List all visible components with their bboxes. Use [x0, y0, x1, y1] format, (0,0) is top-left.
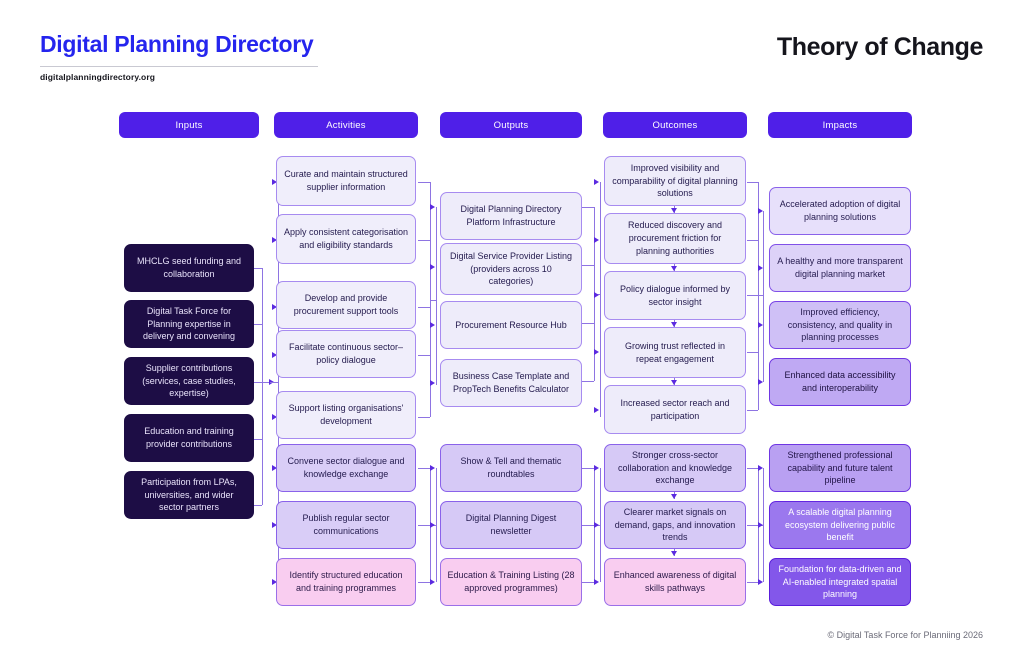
column-header-outcomes: Outcomes [603, 112, 747, 138]
connector-line [747, 525, 758, 526]
node-label: Stronger cross-sector collaboration and … [611, 449, 739, 487]
node-input-4[interactable]: Education and training provider contribu… [124, 414, 254, 462]
connector-trunk [600, 182, 601, 417]
brand-title: Digital Planning Directory [40, 32, 318, 57]
node-label: Supplier contributions (services, case s… [131, 362, 247, 400]
node-impact-5[interactable]: Strengthened professional capability and… [769, 444, 911, 492]
node-outcome-1[interactable]: Improved visibility and comparability of… [604, 156, 746, 206]
node-outcome-5[interactable]: Increased sector reach and participation [604, 385, 746, 434]
node-label: Support listing organisations' developme… [283, 402, 409, 428]
node-label: Business Case Template and PropTech Bene… [447, 370, 575, 396]
connector-line [758, 295, 763, 296]
connector-trunk [436, 207, 437, 385]
node-input-1[interactable]: MHCLG seed funding and collaboration [124, 244, 254, 292]
column-header-label: Outcomes [653, 120, 698, 131]
connector-arrow [430, 322, 435, 328]
connector-arrow [758, 465, 763, 471]
node-activity-5[interactable]: Support listing organisations' developme… [276, 391, 416, 439]
connector-line [747, 410, 758, 411]
node-outcome-8[interactable]: Enhanced awareness of digital skills pat… [604, 558, 746, 606]
connector-arrow [430, 380, 435, 386]
connector-line [582, 582, 594, 583]
node-label: Education & Training Listing (28 approve… [447, 569, 575, 595]
node-label: Enhanced awareness of digital skills pat… [611, 569, 739, 595]
node-label: Apply consistent categorisation and elig… [283, 226, 409, 252]
connector-arrow [594, 292, 599, 298]
node-label: Digital Service Provider Listing (provid… [447, 250, 575, 288]
node-activity-8[interactable]: Identify structured education and traini… [276, 558, 416, 606]
node-activity-7[interactable]: Publish regular sector communications [276, 501, 416, 549]
connector-line [418, 525, 430, 526]
node-label: MHCLG seed funding and collaboration [131, 255, 247, 281]
page-title: Theory of Change [777, 33, 983, 62]
connector-arrow [758, 322, 763, 328]
connector-line [747, 352, 758, 353]
connector-line [582, 207, 594, 208]
node-label: Enhanced data accessibility and interope… [776, 369, 904, 395]
connector-line [582, 468, 594, 469]
connector-trunk [763, 211, 764, 382]
connector-arrow [758, 579, 763, 585]
connector-line [418, 240, 430, 241]
connector-arrow [594, 579, 599, 585]
node-label: Curate and maintain structured supplier … [283, 168, 409, 194]
node-input-5[interactable]: Participation from LPAs, universities, a… [124, 471, 254, 519]
connector-line [747, 240, 758, 241]
node-label: Digital Planning Directory Platform Infr… [447, 203, 575, 229]
connector-line [418, 182, 430, 183]
connector-trunk [436, 468, 437, 582]
column-header-label: Activities [326, 120, 365, 131]
column-header-label: Inputs [175, 120, 202, 131]
node-impact-1[interactable]: Accelerated adoption of digital planning… [769, 187, 911, 235]
connector-arrow-down [671, 494, 677, 499]
node-impact-3[interactable]: Improved efficiency, consistency, and qu… [769, 301, 911, 349]
connector-arrow [594, 237, 599, 243]
node-activity-2[interactable]: Apply consistent categorisation and elig… [276, 214, 416, 264]
node-label: Foundation for data-driven and AI-enable… [776, 563, 904, 601]
column-header-outputs: Outputs [440, 112, 582, 138]
node-output-5[interactable]: Show & Tell and thematic roundtables [440, 444, 582, 492]
node-label: Accelerated adoption of digital planning… [776, 198, 904, 224]
node-label: Improved efficiency, consistency, and qu… [776, 306, 904, 344]
node-output-6[interactable]: Digital Planning Digest newsletter [440, 501, 582, 549]
connector-trunk [600, 468, 601, 582]
node-output-3[interactable]: Procurement Resource Hub [440, 301, 582, 349]
node-input-2[interactable]: Digital Task Force for Planning expertis… [124, 300, 254, 348]
connector-arrow [430, 204, 435, 210]
node-label: Reduced discovery and procurement fricti… [611, 219, 739, 257]
connector-arrow [594, 349, 599, 355]
node-input-3[interactable]: Supplier contributions (services, case s… [124, 357, 254, 405]
node-label: Clearer market signals on demand, gaps, … [611, 506, 739, 544]
node-label: Policy dialogue informed by sector insig… [611, 283, 739, 309]
connector-line [747, 182, 758, 183]
connector-line [430, 300, 436, 301]
column-header-impacts: Impacts [768, 112, 912, 138]
node-label: Increased sector reach and participation [611, 397, 739, 423]
connector-line [582, 265, 594, 266]
node-activity-6[interactable]: Convene sector dialogue and knowledge ex… [276, 444, 416, 492]
node-label: A scalable digital planning ecosystem de… [776, 506, 904, 544]
connector-arrow [430, 264, 435, 270]
node-label: Show & Tell and thematic roundtables [447, 455, 575, 481]
footer-copyright: © Digital Task Force for Planniing 2026 [827, 630, 983, 640]
connector-line [747, 582, 758, 583]
node-output-1[interactable]: Digital Planning Directory Platform Infr… [440, 192, 582, 240]
node-impact-2[interactable]: A healthy and more transparent digital p… [769, 244, 911, 292]
column-header-label: Impacts [823, 120, 858, 131]
node-label: Digital Planning Digest newsletter [447, 512, 575, 538]
brand-block: Digital Planning Directory digitalplanni… [40, 32, 318, 82]
connector-arrow-down [671, 551, 677, 556]
connector-trunk [262, 268, 263, 505]
node-label: Participation from LPAs, universities, a… [131, 476, 247, 514]
brand-url: digitalplanningdirectory.org [40, 72, 318, 82]
column-header-activities: Activities [274, 112, 418, 138]
connector-arrow [430, 579, 435, 585]
node-impact-4[interactable]: Enhanced data accessibility and interope… [769, 358, 911, 406]
column-header-inputs: Inputs [119, 112, 259, 138]
node-label: Develop and provide procurement support … [283, 292, 409, 318]
connector-arrow [758, 265, 763, 271]
node-label: Convene sector dialogue and knowledge ex… [283, 455, 409, 481]
node-output-4[interactable]: Business Case Template and PropTech Bene… [440, 359, 582, 407]
connector-arrow [594, 179, 599, 185]
connector-line [418, 468, 430, 469]
node-label: Digital Task Force for Planning expertis… [131, 305, 247, 343]
connector-arrow [430, 465, 435, 471]
node-activity-4[interactable]: Facilitate continuous sector–policy dial… [276, 330, 416, 378]
node-label: Strengthened professional capability and… [776, 449, 904, 487]
node-outcome-2[interactable]: Reduced discovery and procurement fricti… [604, 213, 746, 264]
node-label: A healthy and more transparent digital p… [776, 255, 904, 281]
connector-line [418, 355, 430, 356]
node-label: Publish regular sector communications [283, 512, 409, 538]
node-label: Facilitate continuous sector–policy dial… [283, 341, 409, 367]
node-label: Improved visibility and comparability of… [611, 162, 739, 200]
node-outcome-4[interactable]: Growing trust reflected in repeat engage… [604, 327, 746, 378]
connector-arrow [594, 407, 599, 413]
connector-line [418, 307, 430, 308]
node-label: Education and training provider contribu… [131, 425, 247, 451]
connector-line [582, 323, 594, 324]
node-output-2[interactable]: Digital Service Provider Listing (provid… [440, 243, 582, 295]
node-output-7[interactable]: Education & Training Listing (28 approve… [440, 558, 582, 606]
connector-line [747, 468, 758, 469]
connector-line [582, 525, 594, 526]
column-header-label: Outputs [494, 120, 529, 131]
connector-line [582, 381, 594, 382]
brand-divider [40, 66, 318, 67]
connector-arrow [594, 465, 599, 471]
node-impact-7[interactable]: Foundation for data-driven and AI-enable… [769, 558, 911, 606]
node-outcome-6[interactable]: Stronger cross-sector collaboration and … [604, 444, 746, 492]
theory-of-change-diagram: Digital Planning Directory digitalplanni… [0, 0, 1024, 670]
connector-arrow [430, 522, 435, 528]
connector-arrow [758, 208, 763, 214]
node-label: Procurement Resource Hub [447, 319, 575, 332]
connector-arrow [594, 522, 599, 528]
connector-line [418, 582, 430, 583]
node-outcome-3[interactable]: Policy dialogue informed by sector insig… [604, 271, 746, 320]
connector-arrow [758, 379, 763, 385]
connector-arrow [758, 522, 763, 528]
connector-line [270, 382, 278, 383]
connector-trunk [758, 182, 759, 410]
node-activity-1[interactable]: Curate and maintain structured supplier … [276, 156, 416, 206]
node-activity-3[interactable]: Develop and provide procurement support … [276, 281, 416, 329]
node-outcome-7[interactable]: Clearer market signals on demand, gaps, … [604, 501, 746, 549]
connector-trunk [763, 468, 764, 582]
node-impact-6[interactable]: A scalable digital planning ecosystem de… [769, 501, 911, 549]
connector-line [418, 417, 430, 418]
node-label: Growing trust reflected in repeat engage… [611, 340, 739, 366]
connector-line [747, 295, 758, 296]
node-label: Identify structured education and traini… [283, 569, 409, 595]
